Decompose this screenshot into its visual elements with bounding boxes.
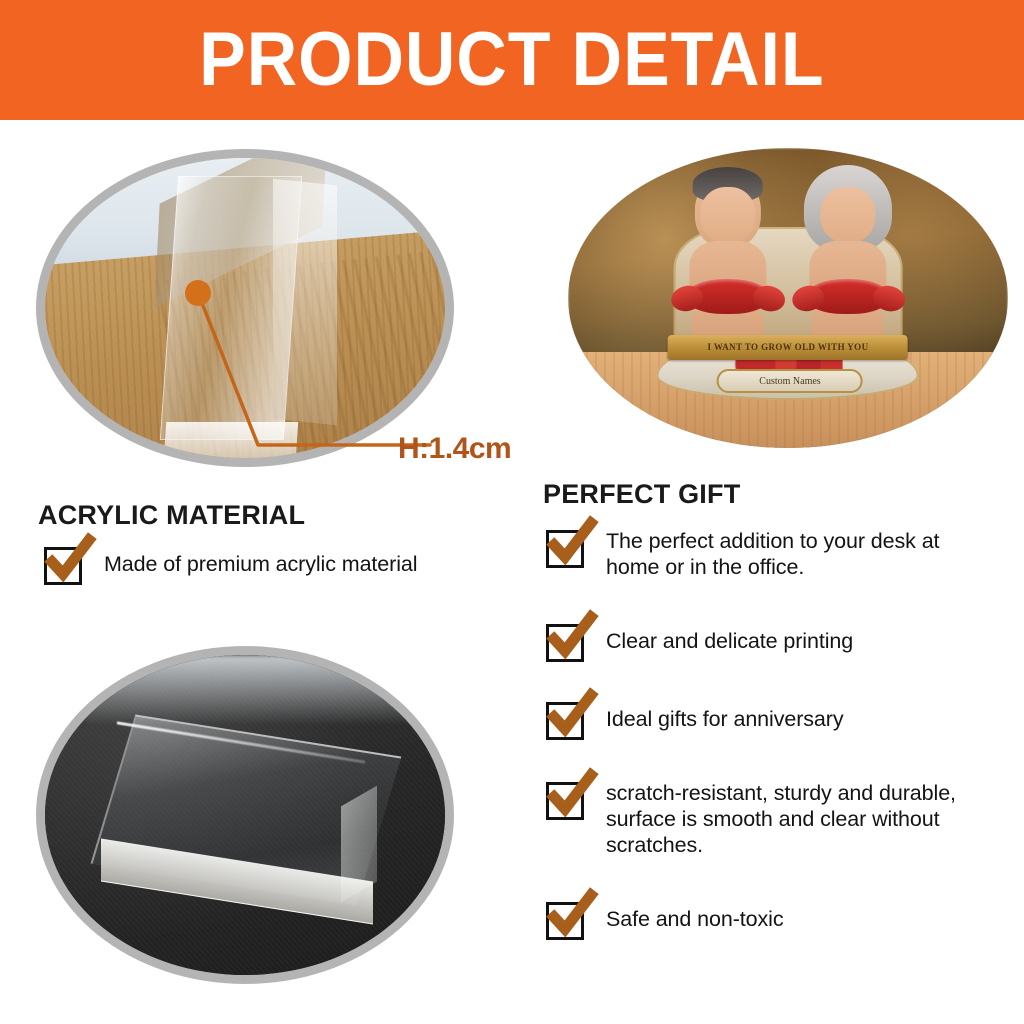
figurine-name-plaque: Custom Names <box>717 369 863 393</box>
checkbox-icon <box>546 782 584 820</box>
checkmark-icon <box>43 534 97 588</box>
man-face <box>701 187 756 242</box>
checkbox-icon <box>546 624 584 662</box>
checkbox-icon <box>44 547 82 585</box>
woman-face <box>821 187 876 242</box>
couple-figurine-photo: I WANT TO GROW OLD WITH YOU Custom Names <box>568 148 1008 448</box>
feature-text: Safe and non-toxic <box>606 906 784 932</box>
callout-dot <box>185 280 211 306</box>
checkmark-icon <box>545 889 599 943</box>
feature-item: scratch-resistant, sturdy and durable, s… <box>546 780 1006 859</box>
section-heading-perfect-gift: PERFECT GIFT <box>543 479 740 510</box>
figurine-banner-text: I WANT TO GROW OLD WITH YOU <box>707 342 868 352</box>
checkbox-icon <box>546 530 584 568</box>
page-title: PRODUCT DETAIL <box>199 22 824 98</box>
height-dimension-label: H:1.4cm <box>398 432 511 466</box>
feature-item: The perfect addition to your desk at hom… <box>546 528 996 580</box>
checkbox-icon <box>546 702 584 740</box>
checkmark-icon <box>545 517 599 571</box>
callout-leader-line <box>198 293 430 445</box>
feature-text: Clear and delicate printing <box>606 628 853 654</box>
figurine-man <box>673 175 782 348</box>
figurine-woman <box>793 175 902 348</box>
dimension-callout-line <box>180 275 420 465</box>
feature-item: Clear and delicate printing <box>546 622 996 662</box>
header-banner: PRODUCT DETAIL <box>0 0 1024 120</box>
checkmark-icon <box>545 611 599 665</box>
product-detail-infographic: PRODUCT DETAIL H:1.4cm <box>0 0 1024 1024</box>
figurine-banner: I WANT TO GROW OLD WITH YOU <box>668 335 908 361</box>
feature-text: Ideal gifts for anniversary <box>606 706 844 732</box>
checkmark-icon <box>545 769 599 823</box>
red-bow-left <box>687 279 770 314</box>
section-heading-acrylic-material: ACRYLIC MATERIAL <box>38 500 305 531</box>
feature-item: Safe and non-toxic <box>546 900 996 940</box>
red-bow-right <box>807 279 890 314</box>
figurine-plaque-text: Custom Names <box>759 376 820 387</box>
checkbox-icon <box>546 902 584 940</box>
feature-text: scratch-resistant, sturdy and durable, s… <box>606 780 1006 859</box>
feature-text: Made of premium acrylic material <box>104 551 417 577</box>
feature-text: The perfect addition to your desk at hom… <box>606 528 996 580</box>
figurine-sculpture: I WANT TO GROW OLD WITH YOU Custom Names <box>652 166 925 400</box>
feature-item: Made of premium acrylic material <box>44 545 514 585</box>
checkmark-icon <box>545 689 599 743</box>
acrylic-block-photo <box>45 655 445 975</box>
feature-item: Ideal gifts for anniversary <box>546 700 996 740</box>
